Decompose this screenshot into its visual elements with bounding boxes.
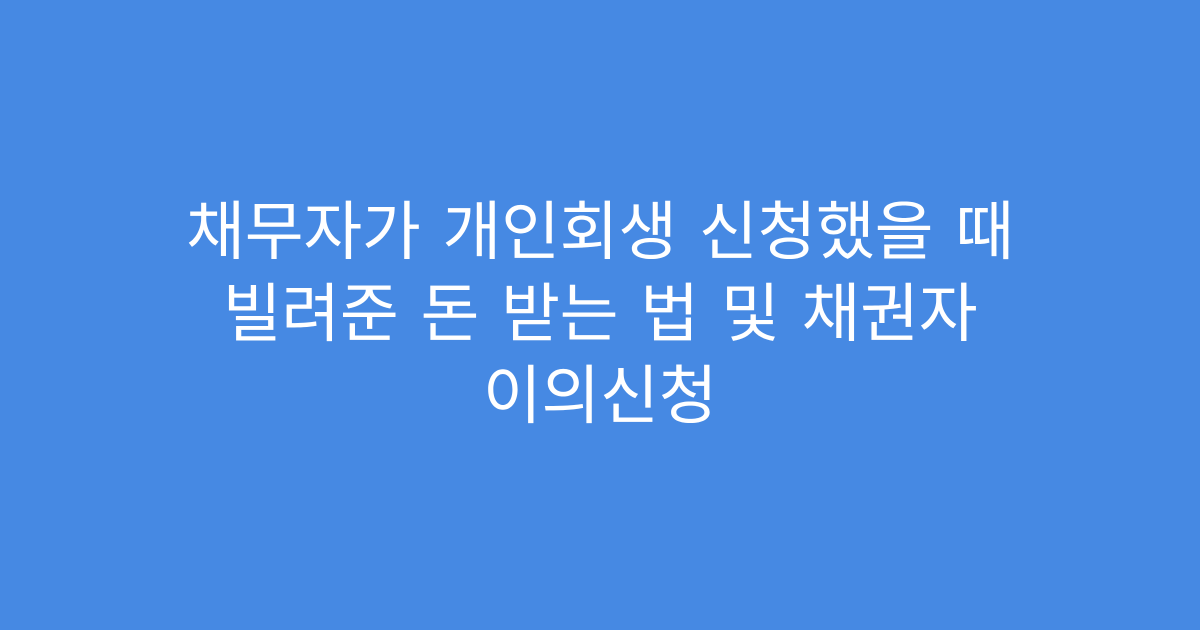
- headline-line-3: 이의신청: [70, 356, 1130, 438]
- headline-line-2: 빌려준 돈 받는 법 및 채권자: [70, 274, 1130, 356]
- headline-title: 채무자가 개인회생 신청했을 때 빌려준 돈 받는 법 및 채권자 이의신청: [70, 192, 1130, 438]
- thumbnail-card: 채무자가 개인회생 신청했을 때 빌려준 돈 받는 법 및 채권자 이의신청: [0, 0, 1200, 630]
- headline-line-1: 채무자가 개인회생 신청했을 때: [70, 192, 1130, 274]
